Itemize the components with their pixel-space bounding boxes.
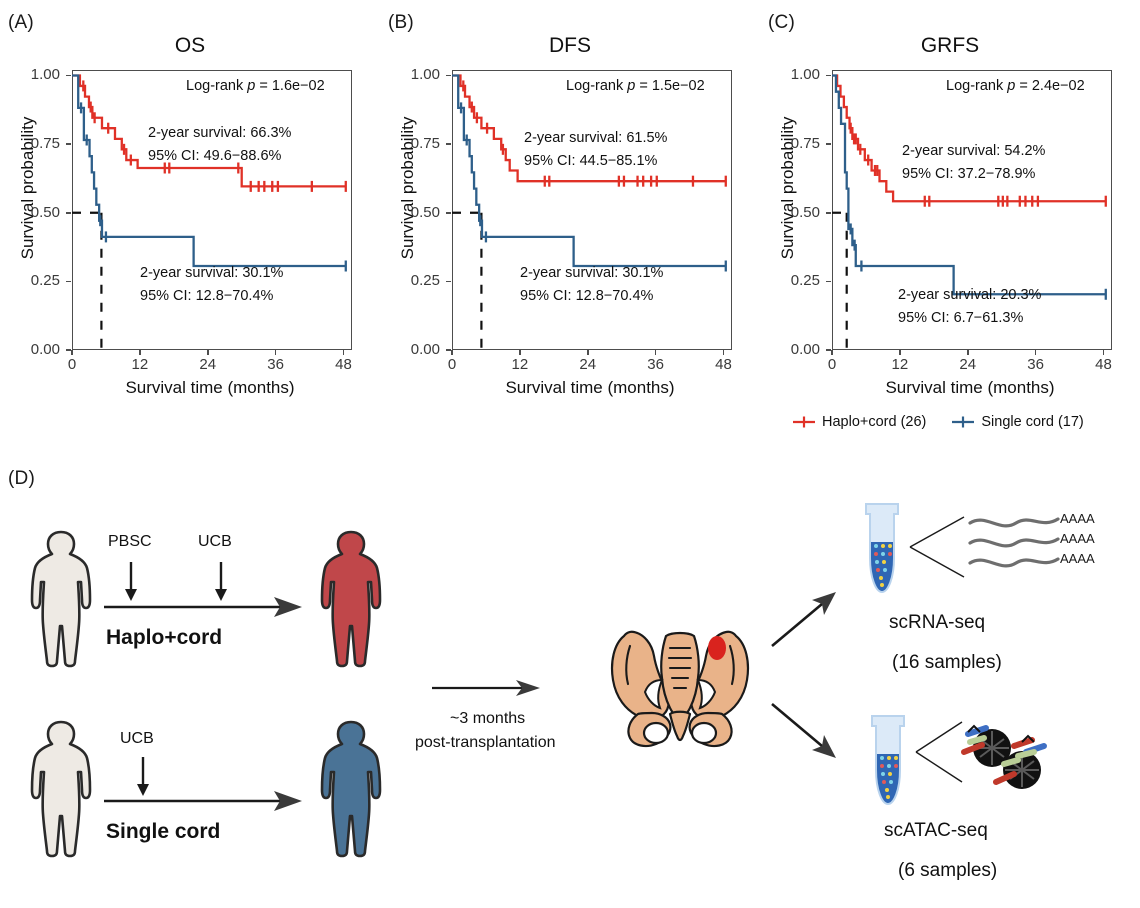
nucleosome-chromatin-icon	[914, 712, 1074, 802]
annotation-red-ci-dfs: 95% CI: 44.5−85.1%	[524, 153, 657, 169]
y-tick-mark	[826, 281, 831, 283]
logrank-prefix: Log-rank	[186, 78, 247, 94]
y-tick-label: 0.25	[8, 272, 60, 289]
x-tick-label: 48	[1084, 356, 1124, 373]
km-panel-grfs: GRFS Survival probability Survival time …	[760, 0, 1140, 400]
y-tick-label: 0.50	[388, 204, 440, 221]
x-tick-label: 0	[812, 356, 852, 373]
y-tick-mark	[826, 75, 831, 77]
arm2-label-ucb: UCB	[120, 730, 154, 748]
panel-title-grfs: GRFS	[760, 34, 1140, 58]
annotation-blue-survival-os: 2-year survival: 30.1%	[140, 265, 283, 281]
y-tick-mark	[66, 281, 71, 283]
assay-label-scatac: scATAC-seq	[884, 820, 988, 842]
logrank-value: = 1.6e−02	[255, 78, 324, 94]
annotation-red-survival-dfs: 2-year survival: 61.5%	[524, 130, 667, 146]
annotation-logrank-os: Log-rank p = 1.6e−02	[186, 78, 325, 94]
y-tick-mark	[826, 212, 831, 214]
arm1-label-pbsc: PBSC	[108, 533, 152, 551]
arm1-name-label: Haplo+cord	[106, 626, 222, 650]
rna-transcript-lines-icon: AAAA AAAA AAAA	[908, 505, 1088, 585]
donor-body-arm2	[22, 718, 100, 858]
annotation-red-ci-grfs: 95% CI: 37.2−78.9%	[902, 166, 1035, 182]
post-transplant-line1: ~3 months	[450, 710, 525, 728]
donor-body-arm1	[22, 528, 100, 668]
x-axis-label-os: Survival time (months)	[60, 378, 360, 398]
x-tick-label: 24	[188, 356, 228, 373]
figure-canvas: (A) OS Survival probability Survival tim…	[0, 0, 1140, 908]
legend-label-single-cord: Single cord (17)	[981, 414, 1083, 430]
assay-label-scrna: scRNA-seq	[889, 612, 985, 634]
x-tick-mark	[275, 350, 277, 355]
x-tick-mark	[587, 350, 589, 355]
y-tick-mark	[66, 75, 71, 77]
x-tick-mark	[1035, 350, 1037, 355]
y-tick-mark	[446, 212, 451, 214]
x-tick-mark	[343, 350, 345, 355]
x-tick-mark	[899, 350, 901, 355]
km-curves-dfs	[452, 70, 732, 350]
y-tick-label: 0.25	[388, 272, 440, 289]
y-tick-label: 0.75	[388, 135, 440, 152]
x-tick-label: 36	[256, 356, 296, 373]
legend-label-haplo-cord: Haplo+cord (26)	[822, 414, 926, 430]
km-curve	[72, 75, 346, 266]
x-tick-mark	[655, 350, 657, 355]
y-tick-mark	[66, 143, 71, 145]
km-curves-os	[72, 70, 352, 350]
x-tick-mark	[451, 350, 453, 355]
x-tick-mark	[831, 350, 833, 355]
logrank-prefix: Log-rank	[946, 78, 1007, 94]
y-tick-label: 1.00	[768, 66, 820, 83]
branch-arrow-up-icon	[770, 590, 840, 650]
annotation-red-survival-os: 2-year survival: 66.3%	[148, 125, 291, 141]
y-tick-label: 0.25	[768, 272, 820, 289]
annotation-blue-ci-dfs: 95% CI: 12.8−70.4%	[520, 288, 653, 304]
logrank-value: = 2.4e−02	[1015, 78, 1084, 94]
y-tick-mark	[446, 281, 451, 283]
tube-with-nucleosome-icon	[858, 712, 918, 812]
y-tick-mark	[66, 212, 71, 214]
marrow-site-marker	[708, 636, 726, 660]
rna-tail-3: AAAA	[1060, 551, 1095, 566]
y-tick-mark	[826, 143, 831, 145]
x-tick-label: 12	[120, 356, 160, 373]
x-tick-mark	[71, 350, 73, 355]
x-tick-mark	[967, 350, 969, 355]
x-tick-label: 0	[52, 356, 92, 373]
x-tick-label: 36	[1016, 356, 1056, 373]
km-panel-dfs: DFS Survival probability Survival time (…	[380, 0, 760, 400]
arm2-name-label: Single cord	[106, 820, 220, 844]
panel-letter-d: (D)	[8, 468, 35, 490]
y-tick-label: 1.00	[388, 66, 440, 83]
rna-tail-1: AAAA	[1060, 511, 1095, 526]
branch-arrow-down-icon	[770, 700, 840, 760]
annotation-logrank-grfs: Log-rank p = 2.4e−02	[946, 78, 1085, 94]
legend-key-single-cord-icon	[952, 415, 974, 429]
y-tick-label: 1.00	[8, 66, 60, 83]
arm2-main-arrow-icon	[104, 790, 304, 812]
logrank-prefix: Log-rank	[566, 78, 627, 94]
annotation-blue-survival-dfs: 2-year survival: 30.1%	[520, 265, 663, 281]
arm1-main-arrow-icon	[104, 596, 304, 618]
x-tick-mark	[139, 350, 141, 355]
annotation-blue-ci-os: 95% CI: 12.8−70.4%	[140, 288, 273, 304]
annotation-blue-survival-grfs: 2-year survival: 20.3%	[898, 287, 1041, 303]
x-tick-mark	[1103, 350, 1105, 355]
rna-tail-2: AAAA	[1060, 531, 1095, 546]
legend-item-haplo-cord[interactable]: Haplo+cord (26)	[793, 414, 926, 430]
logrank-value: = 1.5e−02	[635, 78, 704, 94]
legend-key-haplo-cord-icon	[793, 415, 815, 429]
assay-count-scrna: (16 samples)	[892, 652, 1002, 674]
x-tick-label: 48	[324, 356, 364, 373]
km-curves-grfs	[832, 70, 1112, 350]
x-tick-label: 24	[948, 356, 988, 373]
x-tick-label: 48	[704, 356, 744, 373]
x-tick-label: 0	[432, 356, 472, 373]
y-tick-label: 0.50	[8, 204, 60, 221]
x-tick-mark	[519, 350, 521, 355]
x-axis-label-dfs: Survival time (months)	[440, 378, 740, 398]
x-axis-label-grfs: Survival time (months)	[820, 378, 1120, 398]
x-tick-mark	[207, 350, 209, 355]
panel-title-dfs: DFS	[380, 34, 760, 58]
km-curve	[452, 75, 726, 266]
y-tick-mark	[446, 75, 451, 77]
pelvis-bone-marrow-icon	[600, 628, 760, 750]
post-transplant-arrow-icon	[432, 678, 542, 698]
x-tick-label: 12	[880, 356, 920, 373]
annotation-blue-ci-grfs: 95% CI: 6.7−61.3%	[898, 310, 1023, 326]
arm1-label-ucb: UCB	[198, 533, 232, 551]
legend-item-single-cord[interactable]: Single cord (17)	[952, 414, 1083, 430]
tube-with-rna-icon	[852, 500, 912, 600]
assay-count-scatac: (6 samples)	[898, 860, 997, 882]
x-tick-label: 36	[636, 356, 676, 373]
y-tick-label: 0.50	[768, 204, 820, 221]
y-tick-label: 0.75	[8, 135, 60, 152]
x-tick-mark	[723, 350, 725, 355]
annotation-logrank-dfs: Log-rank p = 1.5e−02	[566, 78, 705, 94]
recipient-body-arm1	[312, 528, 390, 668]
km-panel-os: OS Survival probability Survival time (m…	[0, 0, 380, 400]
annotation-red-ci-os: 95% CI: 49.6−88.6%	[148, 148, 281, 164]
figure-legend: Haplo+cord (26) Single cord (17)	[793, 414, 1084, 430]
recipient-body-arm2	[312, 718, 390, 858]
y-tick-mark	[446, 143, 451, 145]
panel-title-os: OS	[0, 34, 380, 58]
x-tick-label: 12	[500, 356, 540, 373]
km-curve	[832, 75, 1106, 294]
km-curve	[832, 75, 1106, 201]
post-transplant-line2: post-transplantation	[415, 734, 556, 752]
y-tick-label: 0.75	[768, 135, 820, 152]
x-tick-label: 24	[568, 356, 608, 373]
annotation-red-survival-grfs: 2-year survival: 54.2%	[902, 143, 1045, 159]
